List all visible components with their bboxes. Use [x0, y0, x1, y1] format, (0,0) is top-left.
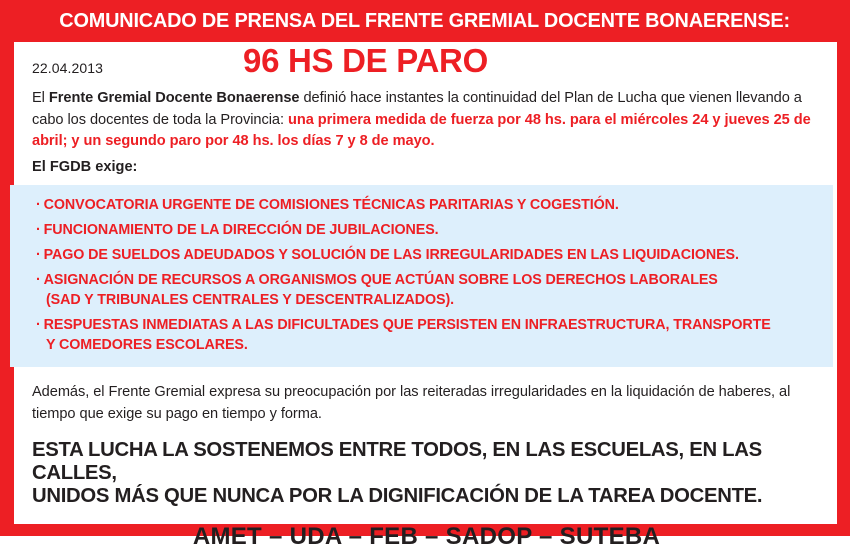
- top-line: 22.04.2013 96 HS DE PARO: [14, 42, 837, 88]
- demand-item-1: ·CONVOCATORIA URGENTE DE COMISIONES TÉCN…: [24, 195, 819, 215]
- header-title: COMUNICADO DE PRENSA DEL FRENTE GREMIAL …: [60, 9, 791, 33]
- demand-item-4-text: ASIGNACIÓN DE RECURSOS A ORGANISMOS QUE …: [44, 272, 718, 288]
- press-release-poster: COMUNICADO DE PRENSA DEL FRENTE GREMIAL …: [0, 0, 850, 536]
- headline: 96 HS DE PARO: [14, 42, 837, 80]
- demand-item-2: ·FUNCIONAMIENTO DE LA DIRECCIÓN DE JUBIL…: [24, 220, 819, 240]
- bullet-icon: ·: [36, 222, 44, 238]
- demand-item-4: ·ASIGNACIÓN DE RECURSOS A ORGANISMOS QUE…: [24, 270, 819, 310]
- content-sheet: 22.04.2013 96 HS DE PARO El Frente Gremi…: [14, 42, 837, 524]
- intro-org-name: Frente Gremial Docente Bonaerense: [49, 90, 300, 106]
- demand-item-1-text: CONVOCATORIA URGENTE DE COMISIONES TÉCNI…: [44, 197, 619, 213]
- demand-item-3: ·PAGO DE SUELDOS ADEUDADOS Y SOLUCIÓN DE…: [24, 245, 819, 265]
- body-wrapper: El Frente Gremial Docente Bonaerense def…: [14, 88, 837, 551]
- intro-text-a: El: [32, 90, 49, 106]
- closing-paragraph: Además, el Frente Gremial expresa su pre…: [32, 381, 821, 425]
- bullet-icon: ·: [36, 197, 44, 213]
- demand-item-5-continuation: Y COMEDORES ESCOLARES.: [46, 335, 819, 355]
- bullet-icon: ·: [36, 272, 44, 288]
- demands-label: El FGDB exige:: [32, 159, 821, 175]
- header-band: COMUNICADO DE PRENSA DEL FRENTE GREMIAL …: [0, 0, 850, 42]
- call-to-action-line-1: ESTA LUCHA LA SOSTENEMOS ENTRE TODOS, EN…: [32, 438, 813, 484]
- call-to-action: ESTA LUCHA LA SOSTENEMOS ENTRE TODOS, EN…: [32, 438, 813, 507]
- demand-item-2-text: FUNCIONAMIENTO DE LA DIRECCIÓN DE JUBILA…: [44, 222, 439, 238]
- bullet-icon: ·: [36, 247, 44, 263]
- intro-paragraph: El Frente Gremial Docente Bonaerense def…: [32, 88, 821, 153]
- bullet-icon: ·: [36, 317, 44, 333]
- call-to-action-line-2: UNIDOS MÁS QUE NUNCA POR LA DIGNIFICACIÓ…: [32, 484, 813, 507]
- union-signatures: AMET – UDA – FEB – SADOP – SUTEBA: [32, 523, 821, 551]
- demand-item-4-continuation: (SAD Y TRIBUNALES CENTRALES Y DESCENTRAL…: [46, 290, 819, 310]
- demand-item-5: ·RESPUESTAS INMEDIATAS A LAS DIFICULTADE…: [24, 315, 819, 355]
- demands-box: ·CONVOCATORIA URGENTE DE COMISIONES TÉCN…: [10, 185, 833, 367]
- demand-item-3-text: PAGO DE SUELDOS ADEUDADOS Y SOLUCIÓN DE …: [44, 247, 739, 263]
- demand-item-5-text: RESPUESTAS INMEDIATAS A LAS DIFICULTADES…: [44, 317, 771, 333]
